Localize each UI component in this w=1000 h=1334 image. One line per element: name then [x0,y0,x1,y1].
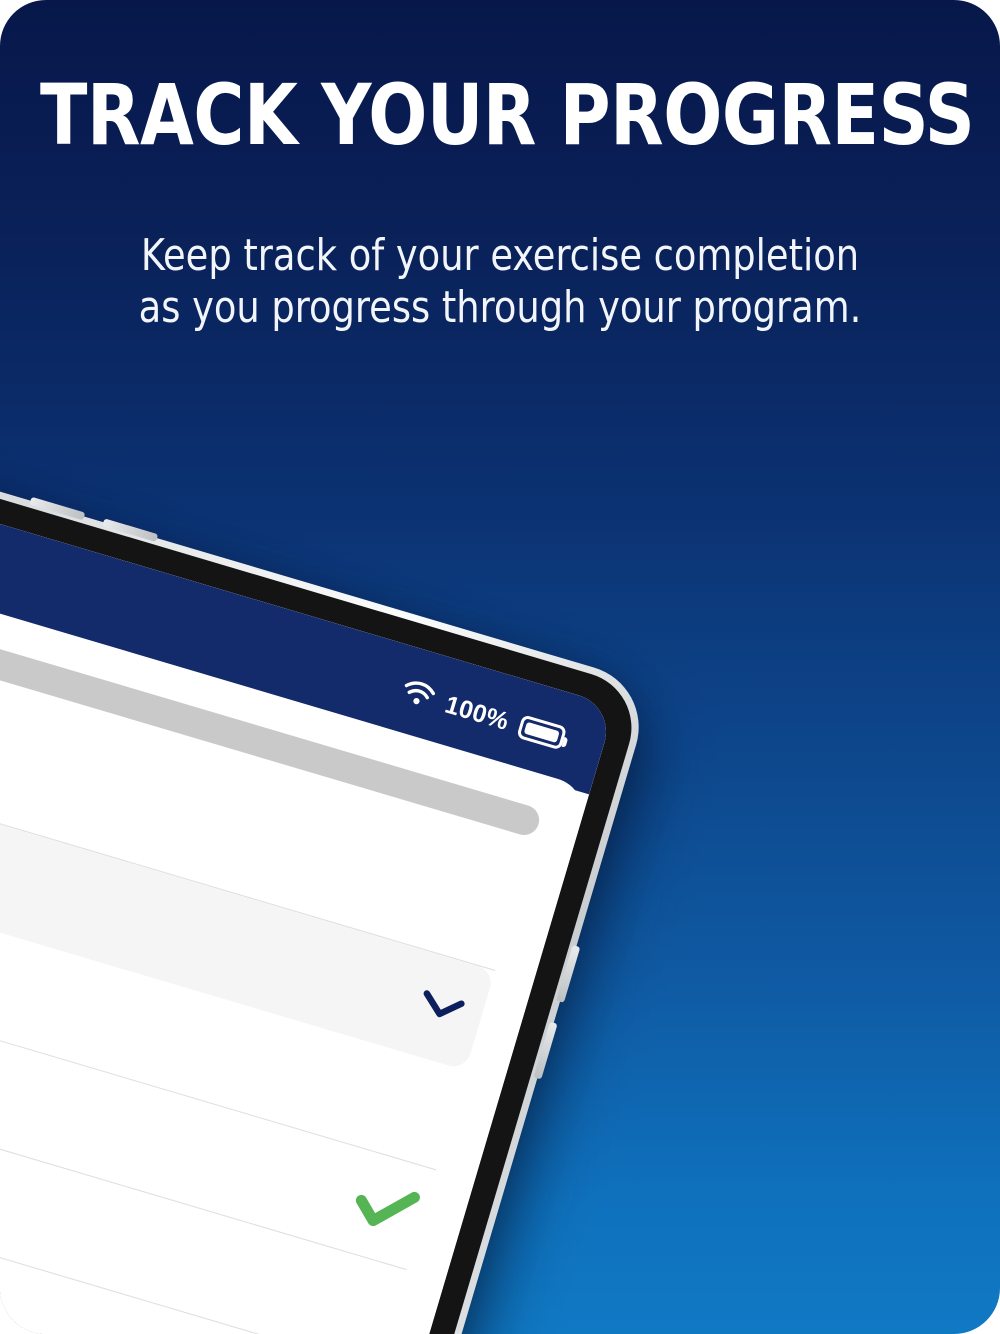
battery-percent-label: 100% [442,690,513,736]
device-bezel: gram 100% [0,407,645,1334]
promo-screenshot-canvas: TRACK YOUR PROGRESS Keep track of your e… [0,0,1000,1334]
battery-full-icon [516,714,567,750]
check-icon[interactable] [346,1174,423,1245]
tablet-device-mockup: gram 100% [0,398,654,1334]
page-title: TRACK YOUR PROGRESS [40,74,960,156]
promo-text-block: TRACK YOUR PROGRESS Keep track of your e… [0,0,1000,334]
chevron-down-icon[interactable] [414,985,468,1032]
battery-fill [524,722,560,743]
promo-subtitle: Keep track of your exercise completion a… [35,230,965,334]
wifi-icon [397,676,438,715]
